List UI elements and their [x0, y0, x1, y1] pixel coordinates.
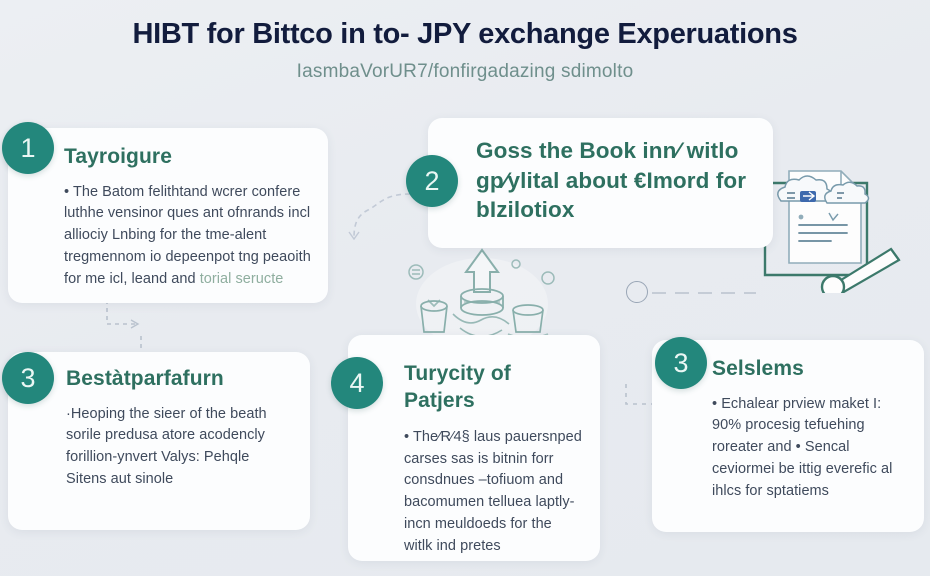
connector-ring-marker [626, 281, 648, 303]
card-3-body: ·Heoping the sieer of the beath sorile p… [66, 404, 294, 491]
card-4-title: Turycity of Patjers [404, 361, 584, 415]
card-4[interactable]: Turycity of Patjers • The⁄R⁄4§ laus paue… [348, 335, 600, 561]
card-badge-4: 4 [331, 357, 383, 409]
card-1-body-tail: torial seructe [200, 271, 284, 287]
card-badge-3: 3 [2, 352, 54, 404]
card-3-title: Bestàtparfafurn [66, 366, 294, 392]
card-badge-1: 1 [2, 122, 54, 174]
page-subtitle: IasmbaVorUR7/fonfirgadazing sdimolto [0, 61, 930, 83]
card-badge-1-number: 1 [20, 133, 35, 164]
connector-card1-card2 [340, 188, 420, 258]
page-title: HIBT for Bittco in to- JPY exchange Expe… [0, 18, 930, 51]
card-1[interactable]: Tayroigure • The Batom felithtand wcrer … [8, 128, 328, 303]
infographic-canvas: HIBT for Bittco in to- JPY exchange Expe… [0, 0, 930, 576]
connector-card1-card3 [95, 298, 165, 356]
card-4-body: • The⁄R⁄4§ laus pauersnped carses sas is… [404, 427, 584, 558]
connector-ring-dashes [652, 288, 762, 298]
header: HIBT for Bittco in to- JPY exchange Expe… [0, 18, 930, 83]
card-1-title: Tayroigure [64, 144, 312, 170]
card-2[interactable]: Goss the Book inn⁄ witlo gp⁄ylital about… [428, 118, 773, 248]
card-badge-2: 2 [406, 155, 458, 207]
card-badge-3-number: 3 [20, 363, 35, 394]
card-badge-4-number: 4 [349, 368, 364, 399]
card-5-title: Selslems [712, 356, 908, 382]
card-2-title: Goss the Book inn⁄ witlo gp⁄ylital about… [476, 136, 753, 225]
card-badge-2-number: 2 [424, 166, 439, 197]
card-5-body: • Echalear prview maket I: 90% procesig … [712, 394, 908, 503]
card-badge-5: 3 [655, 337, 707, 389]
card-1-body: • The Batom felithtand wcrer confere lut… [64, 182, 312, 291]
card-badge-5-number: 3 [673, 348, 688, 379]
